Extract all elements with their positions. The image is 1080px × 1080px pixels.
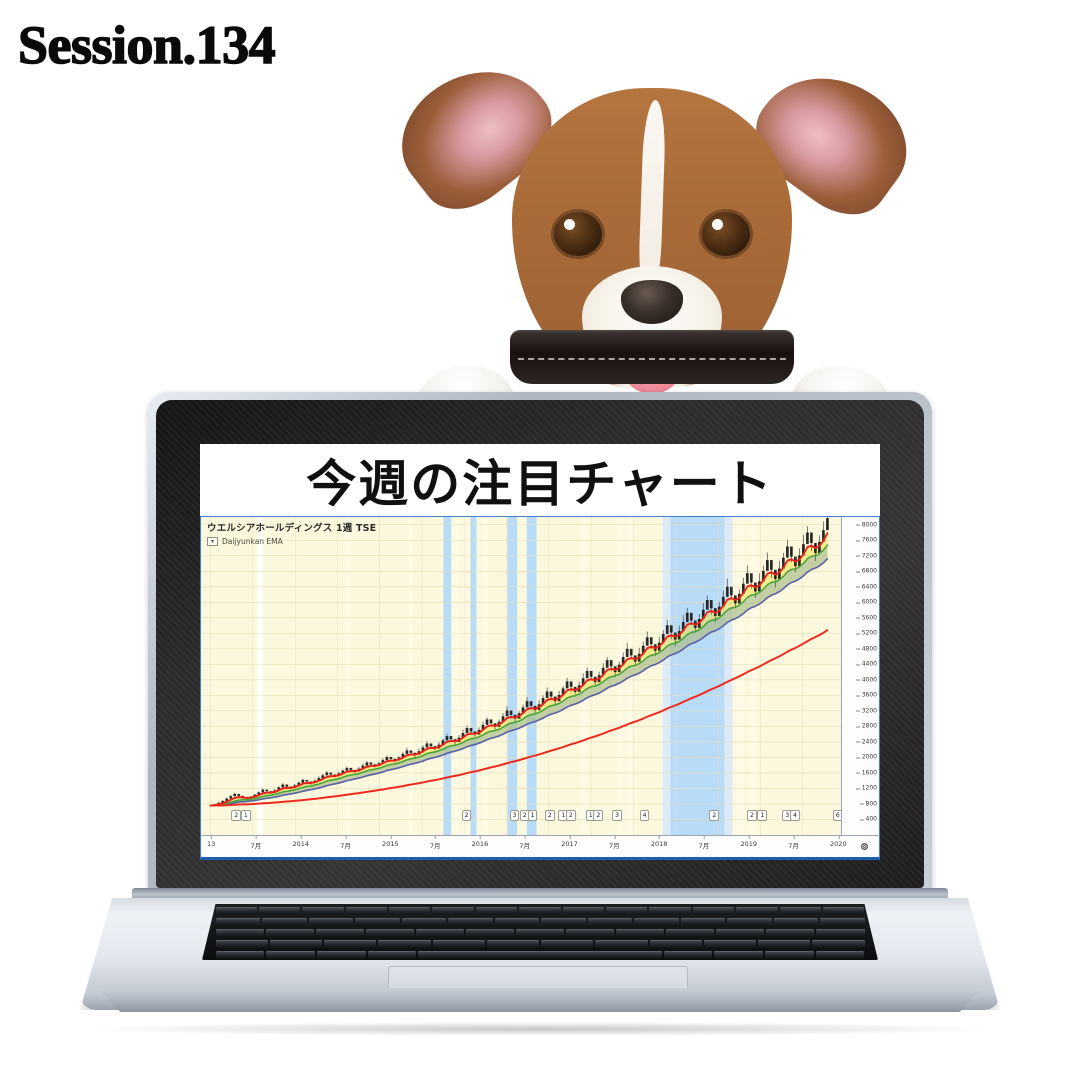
page-title: 今週の注目チャート [200, 444, 880, 516]
chart-signal-marker[interactable]: 1 [528, 810, 538, 821]
x-axis-tick: 2019 [740, 840, 757, 848]
laptop-bezel: 今週の注目チャート 21232121212342213461 ウエルシアホールデ… [156, 400, 924, 888]
chart-signal-marker[interactable]: 3 [612, 810, 622, 821]
keyboard-key[interactable] [516, 929, 564, 937]
gear-icon[interactable] [858, 840, 871, 853]
y-axis-tick: 7600 [862, 537, 877, 544]
y-axis-tick: 6800 [862, 568, 877, 575]
laptop-screen: 今週の注目チャート 21232121212342213461 ウエルシアホールデ… [200, 444, 880, 860]
keyboard-key[interactable] [736, 907, 777, 915]
chart-y-axis[interactable]: 8000760072006800640060005600520048004400… [841, 517, 879, 835]
x-axis-tick: 2020 [830, 840, 847, 848]
keyboard-key[interactable] [418, 951, 661, 959]
y-axis-tick: 4000 [862, 676, 877, 683]
keyboard-key[interactable] [259, 907, 300, 915]
chart-svg [201, 517, 841, 835]
dog-left-eye [554, 212, 602, 256]
y-axis-tick: 6000 [862, 599, 877, 606]
chart-signal-marker[interactable]: 2 [709, 810, 719, 821]
x-axis-tick: 7月 [430, 840, 441, 850]
keyboard-key[interactable] [346, 907, 387, 915]
keyboard-key[interactable] [566, 929, 614, 937]
keyboard-row[interactable] [216, 951, 865, 959]
y-axis-tick: 8000 [862, 521, 877, 528]
keyboard-key[interactable] [519, 907, 560, 915]
chart-signal-marker[interactable]: 1 [757, 810, 767, 821]
chart-signal-marker[interactable]: 2 [231, 810, 241, 821]
x-axis-tick: 2018 [651, 840, 668, 848]
laptop-base-lip [84, 988, 996, 1012]
keyboard-key[interactable] [595, 940, 647, 948]
keyboard-key[interactable] [270, 940, 322, 948]
keyboard-key[interactable] [416, 929, 464, 937]
keyboard-key[interactable] [693, 907, 734, 915]
keyboard-key[interactable] [649, 907, 690, 915]
chart-signal-marker[interactable]: 2 [747, 810, 757, 821]
keyboard-key[interactable] [766, 929, 814, 937]
y-axis-tick: 6400 [862, 583, 877, 590]
keyboard-key[interactable] [433, 940, 485, 948]
x-axis-tick: 7月 [788, 840, 799, 850]
laptop: 今週の注目チャート 21232121212342213461 ウエルシアホールデ… [80, 392, 1000, 1032]
chart-signal-marker[interactable]: 6 [833, 810, 841, 821]
y-axis-tick: 5600 [862, 614, 877, 621]
keyboard-key[interactable] [563, 907, 604, 915]
y-axis-tick: 7200 [862, 552, 877, 559]
laptop-shadow [90, 1022, 990, 1036]
x-axis-tick: 2017 [561, 840, 578, 848]
x-axis-tick: 7月 [251, 840, 262, 850]
keyboard-key[interactable] [448, 918, 493, 926]
session-title: Session.134 [18, 18, 275, 72]
keyboard-key[interactable] [402, 918, 447, 926]
keyboard-key[interactable] [216, 940, 268, 948]
keyboard-key[interactable] [765, 951, 814, 959]
keyboard-key[interactable] [309, 918, 354, 926]
x-axis-tick: 7月 [609, 840, 620, 850]
keyboard-key[interactable] [823, 907, 864, 915]
chart-signal-marker[interactable]: 2 [566, 810, 576, 821]
chart-signal-marker[interactable]: 3 [510, 810, 520, 821]
chart-signal-marker[interactable]: 4 [790, 810, 800, 821]
keyboard-key[interactable] [302, 907, 343, 915]
keyboard-key[interactable] [541, 940, 593, 948]
keyboard-key[interactable] [216, 918, 261, 926]
keyboard-key[interactable] [716, 929, 764, 937]
keyboard-key[interactable] [476, 907, 517, 915]
keyboard-key[interactable] [780, 907, 821, 915]
y-axis-tick: 4800 [862, 645, 877, 652]
keyboard-key[interactable] [812, 940, 864, 948]
keyboard-key[interactable] [216, 907, 257, 915]
keyboard-key[interactable] [432, 907, 473, 915]
keyboard-key[interactable] [650, 940, 702, 948]
y-axis-tick: 3200 [862, 707, 877, 714]
keyboard-key[interactable] [216, 951, 265, 959]
keyboard-row[interactable] [216, 929, 865, 937]
y-axis-tick: 5200 [862, 630, 877, 637]
x-axis-tick: 2014 [292, 840, 309, 848]
keyboard-key[interactable] [378, 940, 430, 948]
x-axis-tick: 13 [207, 840, 215, 848]
chart-signal-marker[interactable]: 2 [594, 810, 604, 821]
keyboard-key[interactable] [389, 907, 430, 915]
keyboard-key[interactable] [487, 940, 539, 948]
chart-plot-area[interactable]: 21232121212342213461 [201, 517, 841, 835]
chart-signal-marker[interactable]: 1 [241, 810, 251, 821]
keyboard-key[interactable] [466, 929, 514, 937]
keyboard-key[interactable] [355, 918, 400, 926]
keyboard-key[interactable] [820, 918, 865, 926]
keyboard-key[interactable] [816, 929, 864, 937]
keyboard-row[interactable] [216, 907, 865, 915]
keyboard-key[interactable] [495, 918, 540, 926]
keyboard-row[interactable] [216, 940, 865, 948]
stock-chart[interactable]: 21232121212342213461 ウエルシアホールディングス 1週 TS… [200, 516, 880, 860]
keyboard-key[interactable] [634, 918, 679, 926]
keyboard-key[interactable] [262, 918, 307, 926]
keyboard-key[interactable] [316, 929, 364, 937]
y-axis-tick: 2800 [862, 723, 877, 730]
keyboard-key[interactable] [366, 929, 414, 937]
keyboard-key[interactable] [606, 907, 647, 915]
y-axis-tick: 1200 [862, 785, 877, 792]
keyboard-row[interactable] [216, 918, 865, 926]
keyboard-key[interactable] [541, 918, 586, 926]
x-axis-tick: 7月 [699, 840, 710, 850]
keyboard-key[interactable] [588, 918, 633, 926]
keyboard-key[interactable] [727, 918, 772, 926]
keyboard-key[interactable] [317, 951, 366, 959]
chart-signal-marker[interactable]: 4 [640, 810, 650, 821]
keyboard-key[interactable] [714, 951, 763, 959]
laptop-keyboard[interactable] [202, 904, 878, 960]
keyboard-key[interactable] [666, 929, 714, 937]
y-axis-tick: 2400 [862, 738, 877, 745]
keyboard-key[interactable] [704, 940, 756, 948]
x-axis-tick: 2015 [382, 840, 399, 848]
keyboard-key[interactable] [616, 929, 664, 937]
chart-signal-marker[interactable]: 2 [545, 810, 555, 821]
y-axis-tick: 1600 [862, 769, 877, 776]
keyboard-key[interactable] [324, 940, 376, 948]
y-axis-tick: 3600 [862, 692, 877, 699]
keyboard-key[interactable] [216, 929, 264, 937]
y-axis-tick: 2000 [862, 754, 877, 761]
dog-collar [510, 330, 794, 384]
chart-signal-marker[interactable]: 2 [462, 810, 472, 821]
dog-right-eye [702, 212, 750, 256]
x-axis-tick: 7月 [340, 840, 351, 850]
keyboard-key[interactable] [266, 951, 315, 959]
keyboard-key[interactable] [266, 929, 314, 937]
keyboard-key[interactable] [774, 918, 819, 926]
keyboard-key[interactable] [664, 951, 713, 959]
laptop-lid: 今週の注目チャート 21232121212342213461 ウエルシアホールデ… [148, 392, 932, 894]
y-axis-tick: 4400 [862, 661, 877, 668]
y-axis-tick: 800 [866, 800, 877, 807]
keyboard-key[interactable] [816, 951, 865, 959]
y-axis-tick: 400 [866, 816, 877, 823]
x-axis-tick: 7月 [519, 840, 530, 850]
chart-x-axis[interactable]: 137月20147月20157月20167月20177月20187月20197月… [201, 835, 879, 857]
keyboard-key[interactable] [758, 940, 810, 948]
keyboard-key[interactable] [681, 918, 726, 926]
x-axis-tick: 2016 [472, 840, 489, 848]
keyboard-key[interactable] [368, 951, 417, 959]
